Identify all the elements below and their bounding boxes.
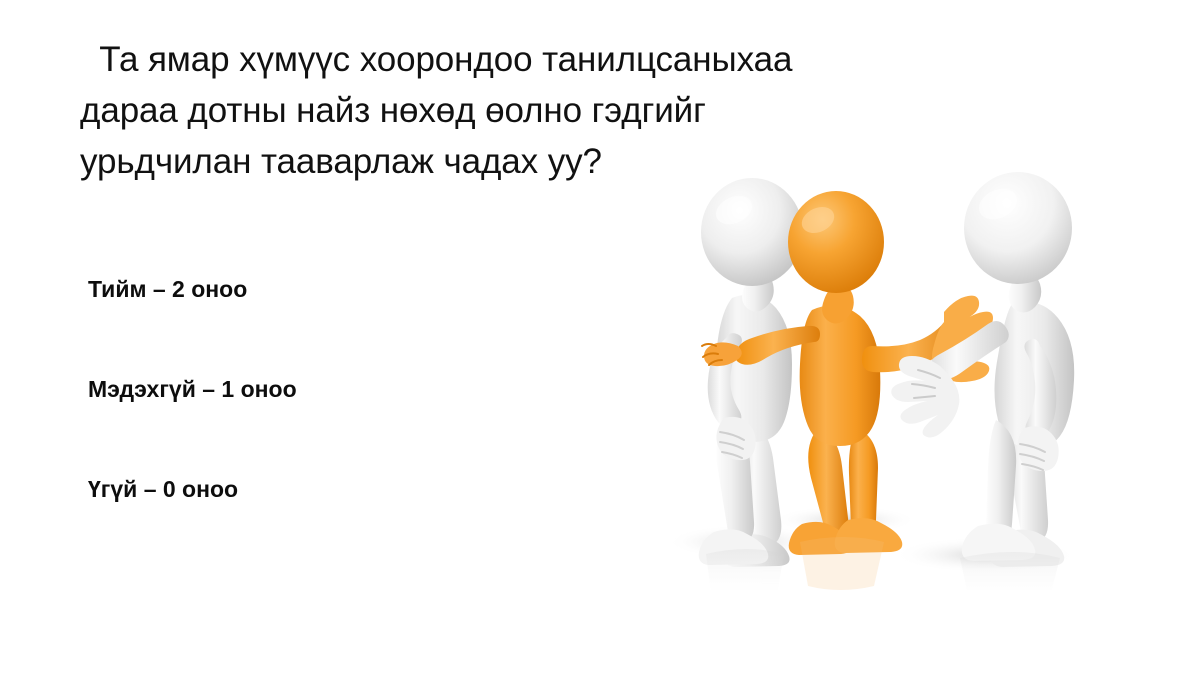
answer-option-unknown[interactable]: Мэдэхгүй – 1 оноо bbox=[88, 376, 518, 476]
question-line-2: дараа дотны найз нөхөд өолно гэдгийг bbox=[80, 85, 1030, 136]
answer-option-label: Үгүй – 0 оноо bbox=[88, 476, 238, 502]
center-figure-head bbox=[788, 191, 884, 293]
question-line-1: Та ямар хүмүүс хоорондоо танилцсаныхаа bbox=[80, 34, 1030, 85]
question-text-block: Та ямар хүмүүс хоорондоо танилцсаныхаа д… bbox=[80, 34, 1030, 187]
left-figure-head bbox=[701, 178, 803, 286]
answer-option-no[interactable]: Үгүй – 0 оноо bbox=[88, 476, 518, 576]
slide-canvas: Та ямар хүмүүс хоорондоо танилцсаныхаа д… bbox=[0, 0, 1200, 675]
left-white-figure bbox=[699, 178, 803, 567]
answer-option-label: Мэдэхгүй – 1 оноо bbox=[88, 376, 297, 402]
answer-option-yes[interactable]: Тийм – 2 оноо bbox=[88, 276, 518, 376]
answer-options-list: Тийм – 2 оноо Мэдэхгүй – 1 оноо Үгүй – 0… bbox=[88, 276, 518, 576]
answer-option-label: Тийм – 2 оноо bbox=[88, 276, 247, 302]
three-figures-illustration bbox=[640, 170, 1110, 590]
right-figure-head bbox=[964, 172, 1072, 284]
